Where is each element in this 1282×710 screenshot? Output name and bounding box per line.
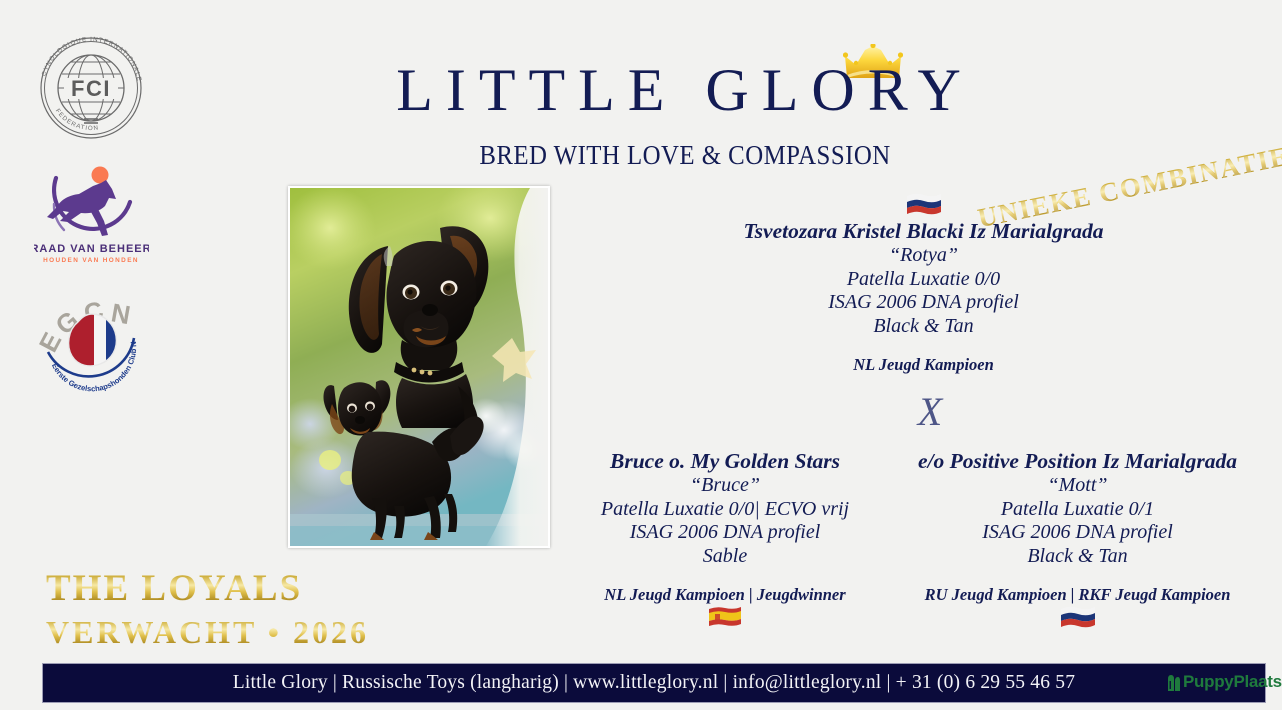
poster-canvas: FCI CYNOLOGIQUE INTERNATIONALE FEDERATIO… xyxy=(0,0,1282,710)
dogs-photo xyxy=(288,186,550,548)
dam-titles-mott: RU Jeugd Kampioen | RKF Jeugd Kampioen xyxy=(905,585,1250,605)
dam-color-mott: Black & Tan xyxy=(905,545,1250,569)
announcement-block: THE LOYALS VERWACHT • 2026 xyxy=(46,568,369,652)
dam-call-name-bruce: “Bruce” xyxy=(560,474,890,498)
dam-block-bruce: Bruce o. My Golden Stars “Bruce” Patella… xyxy=(560,448,890,634)
sire-patella: Patella Luxatie 0/0 xyxy=(671,268,1176,292)
dam-call-name-mott: “Mott” xyxy=(905,474,1250,498)
raad-van-beheer-logo: RAAD VAN BEHEER HOUDEN VAN HONDEN xyxy=(34,158,149,268)
dam-color-bruce: Sable xyxy=(560,545,890,569)
dam-titles-bruce: NL Jeugd Kampioen | Jeugdwinner xyxy=(560,585,890,605)
footer-contact-text: Little Glory | Russische Toys (langharig… xyxy=(233,672,1075,694)
puppyplaats-label: PuppyPlaats xyxy=(1183,672,1282,692)
sire-name: Tsvetozara Kristel Blacki Iz Marialgrada xyxy=(671,218,1176,244)
svg-text:FCI: FCI xyxy=(71,76,111,101)
sire-call-name: “Rotya” xyxy=(671,244,1176,268)
announcement-subtitle: VERWACHT • 2026 xyxy=(46,613,369,651)
announcement-title: THE LOYALS xyxy=(46,568,369,609)
footer-bar: Little Glory | Russische Toys (langharig… xyxy=(42,663,1266,703)
fci-logo: FCI CYNOLOGIQUE INTERNATIONALE FEDERATIO… xyxy=(36,33,146,143)
cross-symbol: X xyxy=(880,388,980,435)
sire-titles: NL Jeugd Kampioen xyxy=(671,355,1176,375)
brand-tagline: BRED WITH LOVE & COMPASSION xyxy=(358,140,1011,171)
dam-patella-mott: Patella Luxatie 0/1 xyxy=(905,498,1250,522)
svg-text:RAAD VAN BEHEER: RAAD VAN BEHEER xyxy=(34,243,149,255)
sire-dna: ISAG 2006 DNA profiel xyxy=(671,291,1176,315)
egcn-logo: E G C N Eerste Gezelschapshonden Club Ne… xyxy=(36,288,148,396)
spain-flag-icon xyxy=(707,616,743,633)
dam-patella-bruce: Patella Luxatie 0/0| ECVO vrij xyxy=(560,498,890,522)
dam-name-bruce: Bruce o. My Golden Stars xyxy=(560,448,890,474)
sire-block: Tsvetozara Kristel Blacki Iz Marialgrada… xyxy=(671,192,1176,375)
svg-text:HOUDEN VAN HONDEN: HOUDEN VAN HONDEN xyxy=(43,257,139,264)
puppyplaats-watermark: PuppyPlaats xyxy=(1166,672,1282,692)
dam-dna-mott: ISAG 2006 DNA profiel xyxy=(905,521,1250,545)
sire-color: Black & Tan xyxy=(671,315,1176,339)
dam-block-mott: e/o Positive Position Iz Marialgrada “Mo… xyxy=(905,448,1250,634)
puppyplaats-icon xyxy=(1166,673,1181,692)
russia-flag-icon xyxy=(1060,616,1096,633)
dam-dna-bruce: ISAG 2006 DNA profiel xyxy=(560,521,890,545)
dam-name-mott: e/o Positive Position Iz Marialgrada xyxy=(905,448,1250,474)
page-title: LITTLE GLORY xyxy=(330,60,1040,120)
russia-flag-icon xyxy=(671,192,1176,216)
